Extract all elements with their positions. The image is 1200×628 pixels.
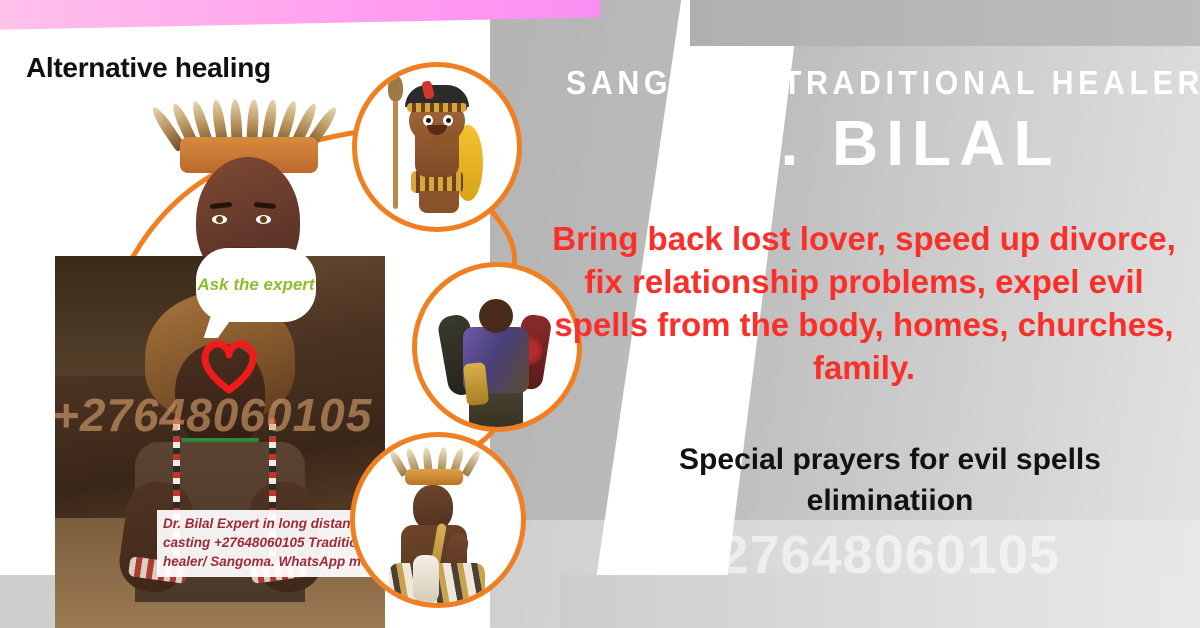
healer-head [479, 299, 513, 333]
circle-image-zulu-warrior [352, 62, 522, 232]
warrior-legs [419, 191, 459, 213]
poster-canvas: Alternative healing [0, 0, 1200, 628]
hero-eye-right [256, 215, 271, 224]
healer-foot-left [467, 427, 491, 432]
spear-icon [393, 83, 398, 209]
healer-name: DR. BILAL [672, 106, 1060, 180]
sangoma-crown [405, 469, 463, 485]
right-phone-watermark: +27648060105 [686, 524, 1060, 586]
speech-bubble: Ask the expert [196, 248, 316, 322]
healer-yellow-cloth [463, 362, 489, 406]
offer-text: Special prayers for evil spells eliminat… [600, 440, 1180, 522]
warrior-headband [407, 103, 467, 112]
circle-image-sangoma-kneeling [350, 432, 526, 608]
left-phone-watermark: +27648060105 [52, 388, 372, 442]
heart-icon [198, 336, 260, 394]
services-text: Bring back lost lover, speed up divorce,… [544, 218, 1184, 390]
bottom-left-gray-band [0, 575, 60, 628]
top-gray-bar [690, 0, 1200, 46]
sangoma-white-cloth [413, 555, 439, 603]
top-orange-bar-wrap [1160, 0, 1200, 36]
speech-bubble-label: Ask the expert [197, 276, 314, 294]
headline-eyebrow: SANGOMA/ TRADITIONAL HEALER [566, 64, 1136, 102]
spear-tip-icon [388, 75, 403, 101]
hero-eye-left [212, 215, 227, 224]
page-title: Alternative healing [26, 52, 271, 84]
